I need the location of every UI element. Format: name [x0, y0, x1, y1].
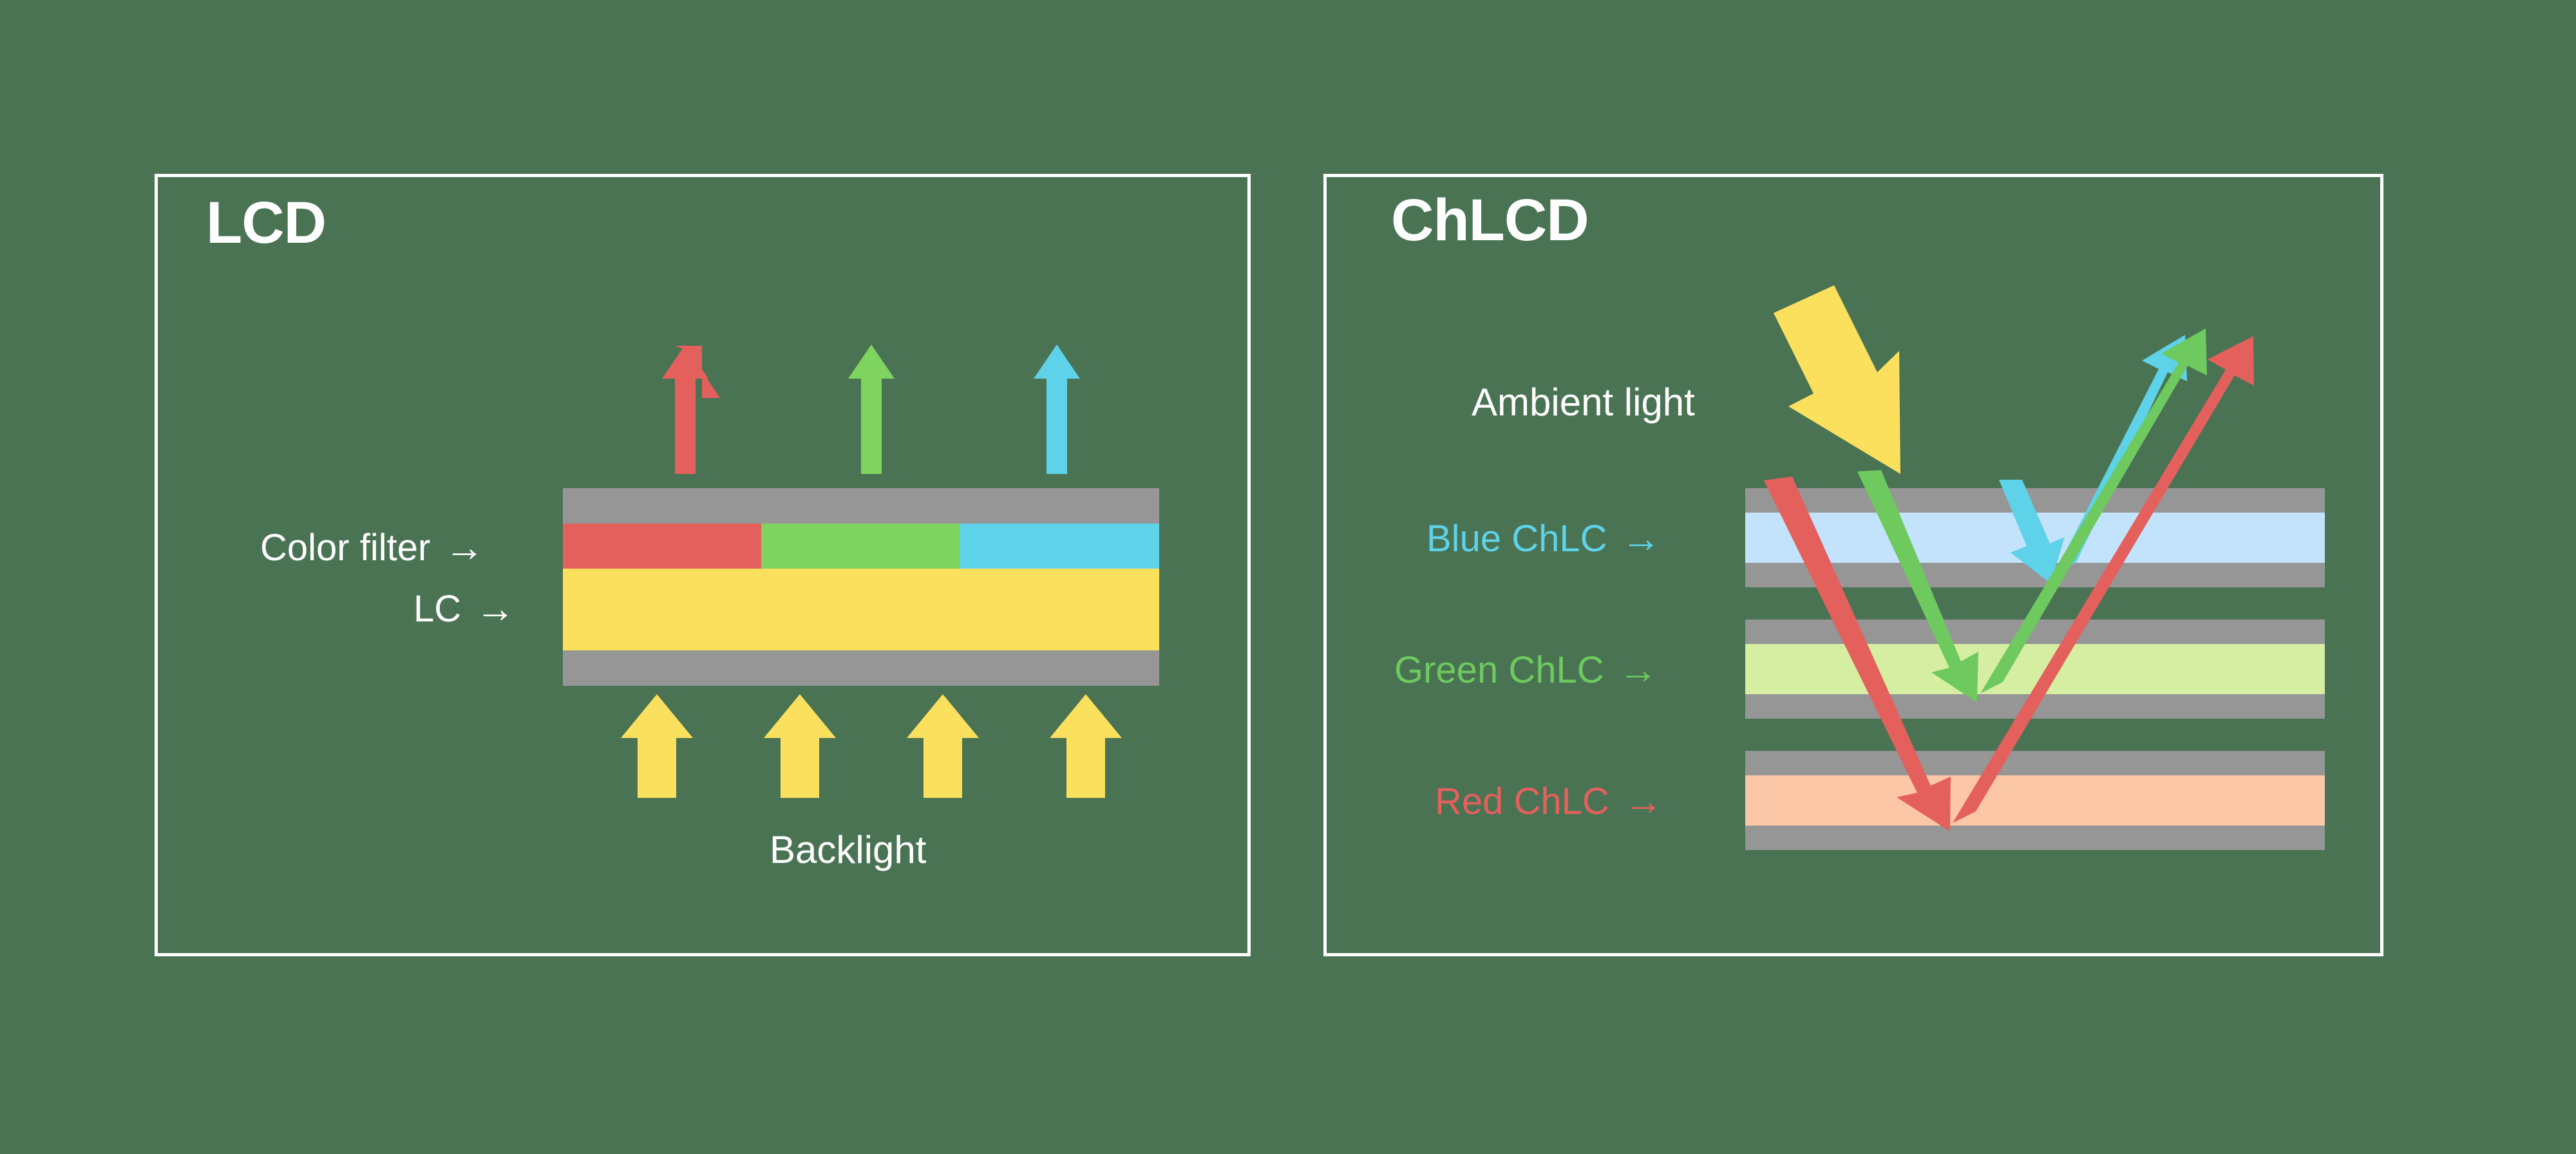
lcd-color-filter-green	[761, 524, 960, 569]
panel-lcd-title: LCD	[206, 193, 326, 252]
chlcd-red-top-electrode	[1745, 751, 2325, 775]
chlcd-blue-layer	[1745, 513, 2325, 563]
label-red-chlc-arrow-icon: →	[1624, 782, 1663, 822]
label-backlight: Backlight	[770, 831, 926, 869]
chlcd-blue-bottom-electrode	[1745, 563, 2325, 587]
lcd-color-filter-red	[563, 524, 761, 569]
label-lc: LC →	[413, 589, 515, 629]
chlcd-red-layer	[1745, 775, 2325, 826]
chlcd-green-bottom-electrode	[1745, 694, 2325, 719]
label-ambient-light: Ambient light	[1472, 383, 1695, 422]
chlcd-green-layer	[1745, 644, 2325, 694]
chlcd-green-top-electrode	[1745, 620, 2325, 644]
label-lc-arrow-icon: →	[475, 589, 515, 629]
label-green-chlc-arrow-icon: →	[1618, 650, 1658, 690]
label-lc-text: LC	[413, 591, 461, 628]
panel-chlcd-title: ChLCD	[1391, 191, 1589, 250]
label-blue-chlc-arrow-icon: →	[1621, 519, 1661, 559]
label-color-filter-arrow-icon: →	[444, 528, 484, 568]
diagram-canvas: LCD Color filter → LC → Backlight ChLCD …	[0, 0, 2576, 1154]
label-red-chlc-text: Red ChLC	[1435, 783, 1609, 820]
label-color-filter: Color filter →	[260, 528, 484, 568]
label-blue-chlc: Blue ChLC →	[1426, 519, 1661, 559]
chlcd-red-bottom-electrode	[1745, 826, 2325, 850]
lcd-liquid-crystal	[563, 569, 1159, 650]
label-color-filter-text: Color filter	[260, 529, 430, 567]
lcd-substrate-bottom	[563, 650, 1159, 686]
lcd-color-filter-blue	[960, 524, 1159, 569]
label-green-chlc-text: Green ChLC	[1394, 652, 1604, 689]
label-red-chlc: Red ChLC →	[1435, 782, 1663, 822]
label-blue-chlc-text: Blue ChLC	[1426, 520, 1607, 558]
chlcd-blue-top-electrode	[1745, 488, 2325, 513]
lcd-substrate-top	[563, 488, 1159, 524]
label-green-chlc: Green ChLC →	[1394, 650, 1658, 690]
